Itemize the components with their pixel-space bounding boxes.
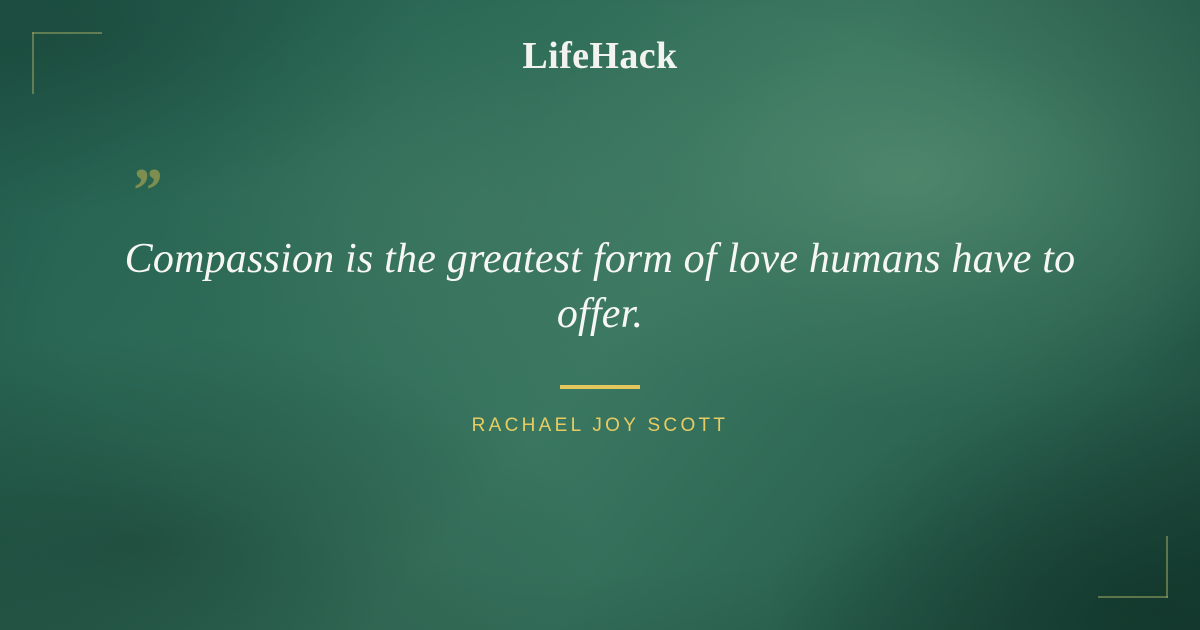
quote-text: Compassion is the greatest form of love … bbox=[100, 232, 1100, 341]
corner-bracket-top-left-horizontal bbox=[32, 32, 102, 34]
corner-bracket-bottom-right-horizontal bbox=[1098, 596, 1168, 598]
quote-card: LifeHack ” Compassion is the greatest fo… bbox=[0, 0, 1200, 630]
corner-bracket-bottom-right-vertical bbox=[1166, 536, 1168, 598]
gold-divider bbox=[560, 385, 640, 389]
quote-author: RACHAEL JOY SCOTT bbox=[100, 415, 1100, 437]
quotation-mark-icon: ” bbox=[130, 160, 159, 222]
corner-bracket-bottom-right-icon bbox=[1098, 536, 1168, 598]
quote-block: ” Compassion is the greatest form of lov… bbox=[100, 160, 1100, 437]
brand-logo: LifeHack bbox=[0, 36, 1200, 78]
